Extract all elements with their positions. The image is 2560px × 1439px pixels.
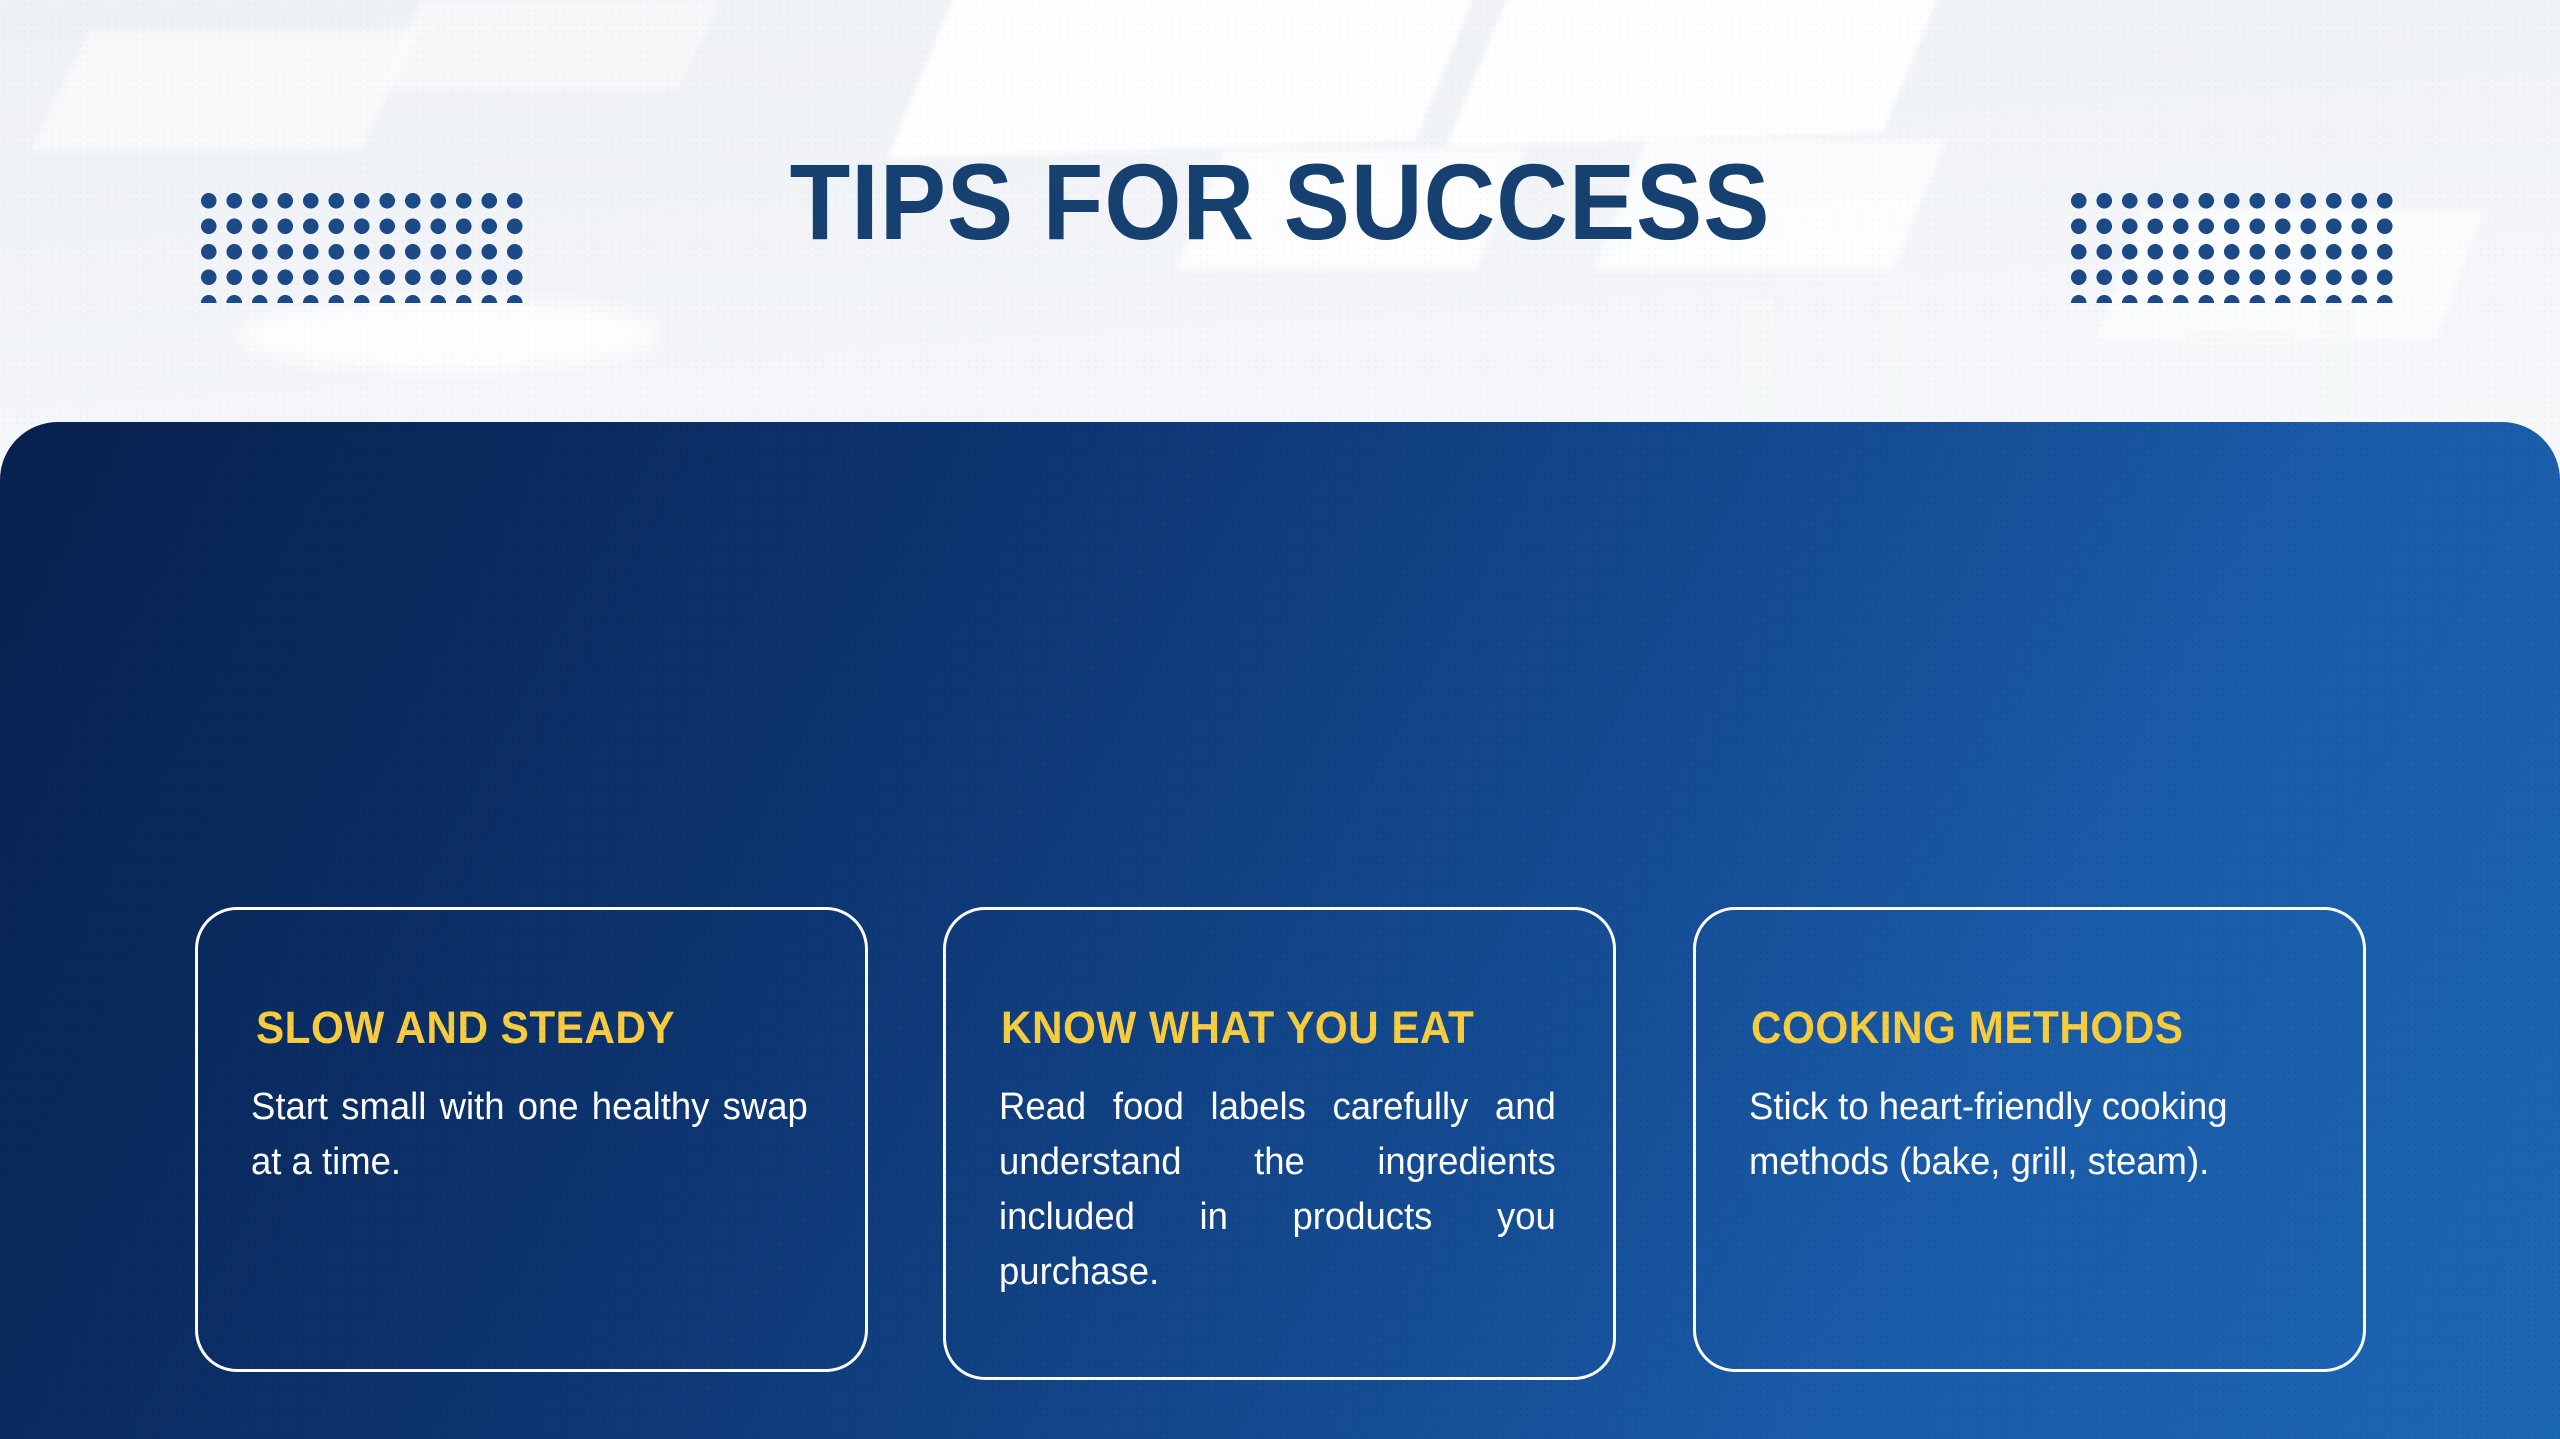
content-panel: SLOW AND STEADY Start small with one hea… <box>0 422 2560 1439</box>
ceiling-light-shape <box>378 0 722 90</box>
tip-card-slow-and-steady[interactable]: SLOW AND STEADY Start small with one hea… <box>195 907 868 1372</box>
background-pillar <box>2180 330 2300 356</box>
ceiling-light-shape <box>240 300 660 370</box>
ceiling-light-shape <box>1446 0 1944 147</box>
ceiling-light-shape <box>31 30 420 150</box>
tip-card-body: Stick to heart-friendly cooking methods … <box>1749 1080 2315 1190</box>
tip-card-title: SLOW AND STEADY <box>256 1004 675 1051</box>
ceiling-light-shape <box>887 0 1493 159</box>
slide-canvas: TIPS FOR SUCCESS SLOW AND STEADY Start s… <box>0 0 2560 1439</box>
tip-card-title: KNOW WHAT YOU EAT <box>1001 1004 1474 1051</box>
tip-card-know-what-you-eat[interactable]: KNOW WHAT YOU EAT Read food labels caref… <box>943 907 1616 1380</box>
tip-card-title: COOKING METHODS <box>1751 1004 2183 1051</box>
tip-card-body: Read food labels carefully and understan… <box>999 1080 1556 1300</box>
page-title: TIPS FOR SUCCESS <box>102 148 2457 256</box>
tip-card-body: Start small with one healthy swap at a t… <box>251 1080 808 1190</box>
tip-card-cooking-methods[interactable]: COOKING METHODS Stick to heart-friendly … <box>1693 907 2366 1372</box>
